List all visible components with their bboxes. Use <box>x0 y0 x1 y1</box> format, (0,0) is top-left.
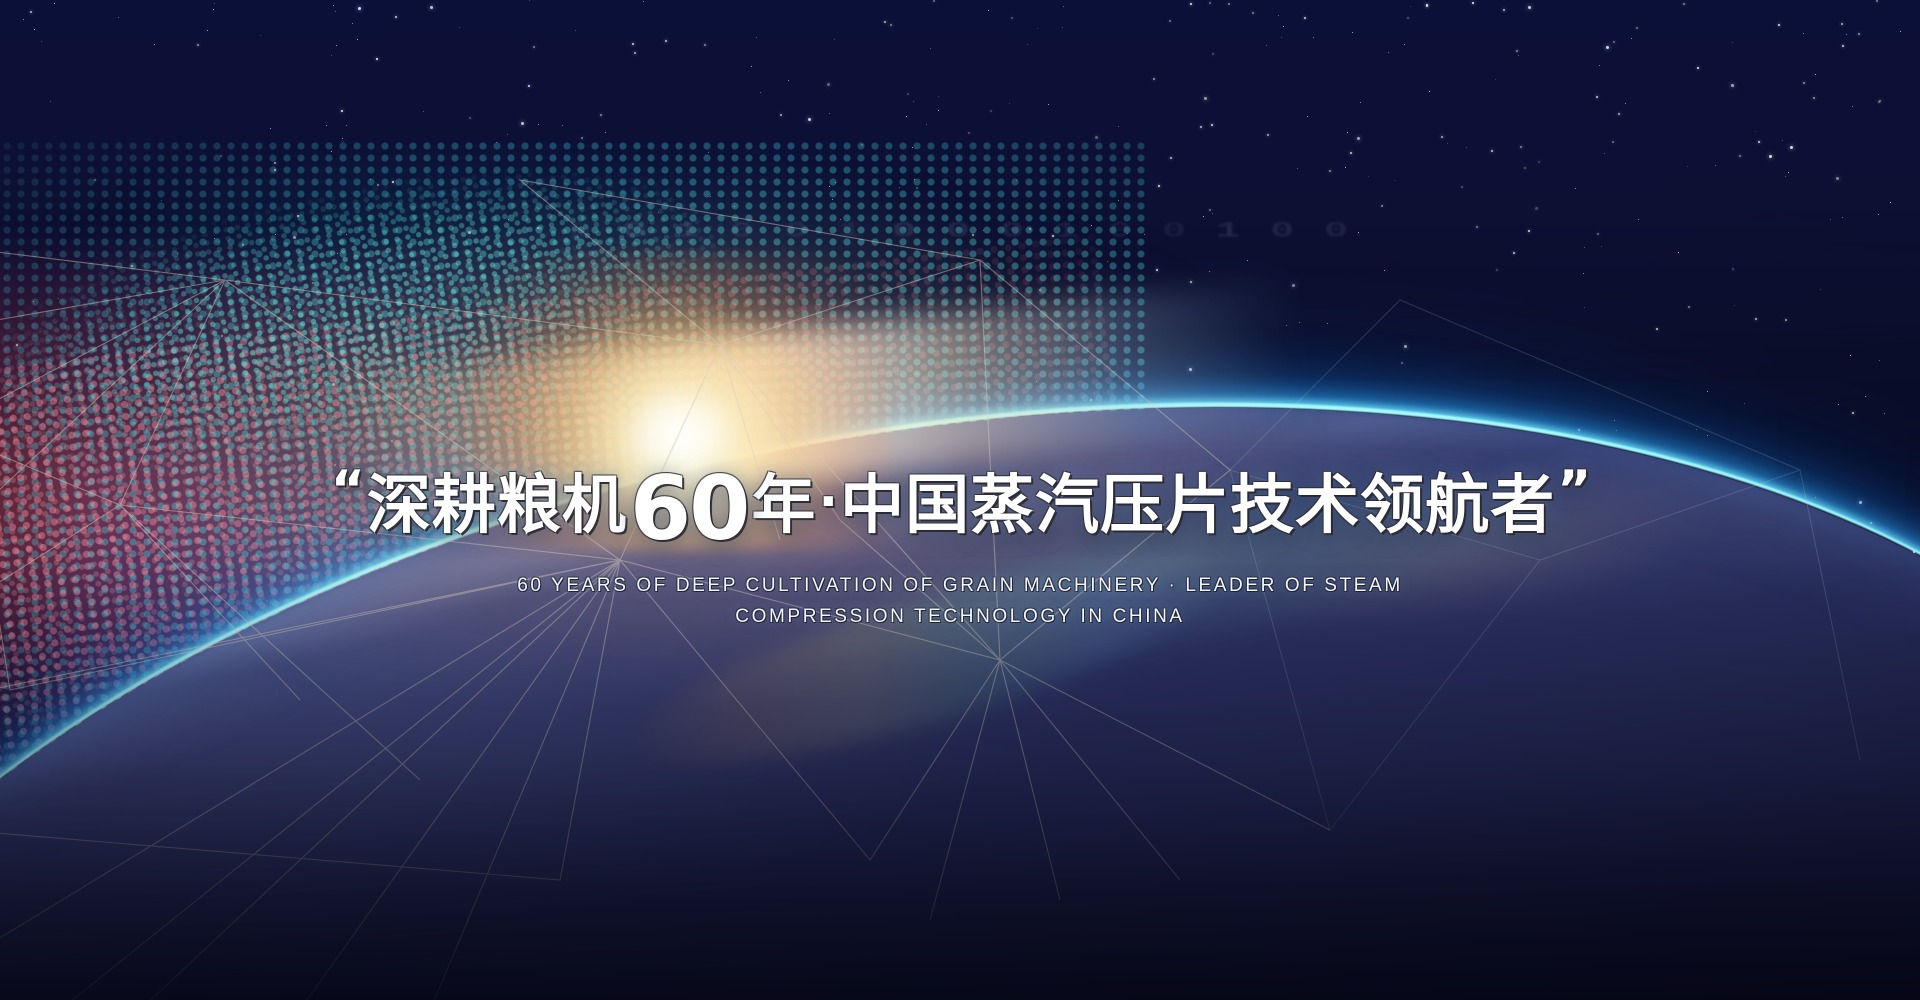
star <box>1037 28 1038 29</box>
star <box>507 134 508 135</box>
star <box>1189 368 1192 371</box>
star <box>788 80 789 81</box>
star <box>955 721 956 722</box>
binary-glyph: 1 <box>1216 219 1244 244</box>
star <box>1495 79 1496 80</box>
star <box>1878 214 1879 215</box>
star <box>1209 729 1210 730</box>
star <box>1625 103 1626 104</box>
star <box>990 110 992 112</box>
star <box>1209 2 1211 4</box>
star <box>1503 9 1505 11</box>
star <box>373 437 375 439</box>
star <box>486 718 489 721</box>
star <box>1170 157 1172 159</box>
binary-glyph: 0 <box>1162 219 1190 244</box>
star <box>829 457 830 458</box>
star <box>263 443 264 444</box>
quote-close-icon: ” <box>1557 464 1589 516</box>
star <box>224 323 225 324</box>
star <box>94 179 96 181</box>
star <box>367 405 368 406</box>
star <box>376 58 378 60</box>
star <box>533 46 535 48</box>
star <box>118 17 119 18</box>
star <box>1790 146 1793 149</box>
star <box>423 111 424 112</box>
star <box>54 3 55 4</box>
star <box>1212 213 1213 214</box>
star <box>473 227 474 228</box>
star <box>1667 679 1669 681</box>
star <box>643 1 644 2</box>
star <box>148 350 151 353</box>
star <box>1143 662 1144 663</box>
star <box>1382 205 1383 206</box>
star <box>562 125 563 126</box>
star <box>391 440 393 442</box>
binary-glyph: 0 <box>1000 219 1028 244</box>
star <box>756 37 757 38</box>
star <box>1472 2 1474 4</box>
star <box>396 371 397 372</box>
star <box>1518 55 1519 56</box>
star <box>1595 646 1597 648</box>
star <box>1467 687 1468 688</box>
star <box>1878 101 1880 103</box>
star <box>1890 202 1891 203</box>
star <box>1190 3 1192 5</box>
star <box>1513 252 1515 254</box>
star <box>1491 150 1493 152</box>
star <box>1578 429 1580 431</box>
star <box>913 101 914 102</box>
star <box>402 705 404 707</box>
star <box>827 83 830 86</box>
star <box>4 278 5 279</box>
star <box>750 752 752 754</box>
star <box>632 43 634 45</box>
star <box>1009 443 1011 445</box>
star <box>1616 430 1617 431</box>
star <box>525 273 526 274</box>
star <box>1584 307 1585 308</box>
star <box>293 310 294 311</box>
star <box>1211 124 1213 126</box>
star <box>293 236 296 239</box>
star <box>1358 232 1359 233</box>
star <box>58 298 59 299</box>
star <box>1283 26 1284 27</box>
star <box>1388 52 1389 53</box>
star <box>1136 722 1138 724</box>
star <box>1884 413 1885 414</box>
star <box>1304 17 1306 19</box>
star <box>604 444 606 446</box>
star <box>1597 233 1599 235</box>
star <box>834 39 835 40</box>
star <box>1732 268 1734 270</box>
star <box>1846 34 1847 35</box>
star <box>751 441 752 442</box>
star <box>1707 435 1708 436</box>
star <box>1209 209 1211 211</box>
star <box>1466 147 1467 148</box>
star <box>529 0 530 1</box>
binary-glyph: 0 <box>730 219 758 244</box>
star <box>832 199 833 200</box>
star <box>337 253 338 254</box>
star <box>1252 12 1254 14</box>
star <box>50 101 51 102</box>
binary-glyph: 0 <box>1270 219 1298 244</box>
star <box>1036 381 1037 382</box>
star <box>1865 396 1866 397</box>
star <box>813 415 815 417</box>
star <box>111 704 112 705</box>
star <box>1368 176 1369 177</box>
star <box>890 24 892 26</box>
star <box>235 758 237 760</box>
star <box>658 212 659 213</box>
star <box>295 397 296 398</box>
star <box>1496 269 1498 271</box>
star <box>30 11 32 13</box>
star <box>23 19 24 20</box>
star <box>1458 711 1459 712</box>
star <box>332 383 335 386</box>
star <box>1278 15 1279 16</box>
star <box>377 184 379 186</box>
star <box>1852 106 1853 107</box>
binary-glyph: 1 <box>676 219 704 244</box>
star <box>1803 82 1805 84</box>
star <box>972 234 974 236</box>
star <box>1329 170 1331 172</box>
star <box>247 379 248 380</box>
star <box>197 44 199 46</box>
star <box>968 132 970 134</box>
star <box>906 116 907 117</box>
star <box>496 142 497 143</box>
star <box>54 637 55 638</box>
star <box>1099 702 1100 703</box>
star <box>930 48 931 49</box>
star <box>1803 33 1804 34</box>
star <box>508 219 509 220</box>
star <box>177 253 178 254</box>
star <box>1207 633 1208 634</box>
star <box>740 286 741 287</box>
star <box>704 44 706 46</box>
star <box>1769 155 1772 158</box>
star <box>1410 6 1411 7</box>
star <box>1815 74 1816 75</box>
headline-part-3: 中国蒸汽压片技术领航者 <box>840 474 1555 538</box>
star <box>1447 143 1448 144</box>
star <box>1583 273 1584 274</box>
headline-part-2: 年 <box>751 474 816 538</box>
star <box>261 310 262 311</box>
star <box>983 230 984 231</box>
headline: “ 深耕粮机 60 年 · 中国蒸汽压片技术领航者 ” <box>0 462 1920 550</box>
star <box>1169 20 1171 22</box>
star <box>161 200 162 201</box>
binary-glyph: 0 <box>568 219 596 244</box>
star <box>1352 32 1353 33</box>
star <box>1118 200 1119 201</box>
star <box>858 757 860 759</box>
star <box>297 215 299 217</box>
star <box>786 687 788 689</box>
star <box>223 436 224 437</box>
horizon-streaks <box>0 780 760 980</box>
star <box>336 45 337 46</box>
star <box>914 179 915 180</box>
star <box>1081 442 1082 443</box>
star <box>161 309 162 310</box>
star <box>988 10 989 11</box>
star <box>516 638 518 640</box>
star <box>1158 185 1160 187</box>
star <box>1118 126 1119 127</box>
star <box>358 7 361 10</box>
star <box>392 181 394 183</box>
star <box>1755 318 1757 320</box>
star <box>487 374 489 376</box>
star <box>521 647 523 649</box>
star <box>33 301 34 302</box>
star <box>1785 176 1786 177</box>
star <box>459 27 460 28</box>
star <box>1024 427 1025 428</box>
star <box>492 449 494 451</box>
star <box>431 428 432 429</box>
star <box>1066 339 1067 340</box>
star <box>581 137 583 139</box>
star <box>1441 136 1443 138</box>
star <box>785 673 787 675</box>
star <box>1584 247 1585 248</box>
subtitle-line-1: 60 YEARS OF DEEP CULTIVATION OF GRAIN MA… <box>0 570 1920 601</box>
star <box>1858 33 1860 35</box>
star <box>1879 360 1880 361</box>
star <box>1203 216 1204 217</box>
star <box>41 41 42 42</box>
star <box>912 147 913 148</box>
star <box>1656 328 1658 330</box>
star <box>1838 404 1839 405</box>
star <box>1107 261 1108 262</box>
star <box>1360 102 1361 103</box>
star <box>1755 131 1756 132</box>
star <box>221 335 223 337</box>
star <box>16 344 18 346</box>
star <box>170 318 171 319</box>
star <box>852 425 855 428</box>
star <box>260 35 261 36</box>
star <box>1678 252 1679 253</box>
star <box>1879 100 1881 102</box>
star <box>1813 97 1815 99</box>
star <box>1404 345 1407 348</box>
star <box>270 128 271 129</box>
star <box>242 244 244 246</box>
star <box>331 151 332 152</box>
star <box>1535 207 1538 210</box>
star <box>370 179 371 180</box>
star <box>1841 23 1843 25</box>
star <box>1307 116 1308 117</box>
star <box>1864 719 1866 721</box>
star <box>1758 141 1760 143</box>
star <box>1327 323 1328 324</box>
star <box>916 187 918 189</box>
star <box>528 85 530 87</box>
star <box>346 125 347 126</box>
star <box>760 92 761 93</box>
star <box>1286 325 1287 326</box>
star <box>1614 420 1615 421</box>
star <box>326 125 327 126</box>
star <box>357 39 358 40</box>
star <box>1121 645 1122 646</box>
star <box>897 374 898 375</box>
star <box>1201 721 1202 722</box>
star <box>1161 676 1163 678</box>
star <box>220 155 222 157</box>
star <box>1687 166 1688 167</box>
star <box>131 265 133 267</box>
star <box>495 285 496 286</box>
star <box>1861 702 1863 704</box>
star <box>1787 705 1788 706</box>
star <box>395 16 397 18</box>
subtitle: 60 YEARS OF DEEP CULTIVATION OF GRAIN MA… <box>0 570 1920 633</box>
star <box>829 186 830 187</box>
star <box>631 314 633 316</box>
star <box>1127 233 1128 234</box>
star <box>1347 132 1348 133</box>
star <box>207 30 208 31</box>
star <box>275 234 276 235</box>
star <box>1528 6 1531 9</box>
star <box>1613 41 1615 43</box>
star <box>1062 27 1063 28</box>
star <box>1599 65 1600 66</box>
star <box>1266 45 1267 46</box>
star <box>1407 17 1409 19</box>
star <box>261 447 263 449</box>
star <box>214 238 215 239</box>
hero-banner: 001001000100100 <box>0 0 1920 1000</box>
star <box>342 138 343 139</box>
star <box>840 219 841 220</box>
star <box>154 44 155 45</box>
star <box>1292 284 1295 287</box>
star <box>1029 228 1031 230</box>
star <box>1042 687 1044 689</box>
star <box>524 663 526 665</box>
star <box>381 745 382 746</box>
star <box>1495 440 1498 443</box>
star <box>1715 165 1716 166</box>
star <box>1287 657 1288 658</box>
star <box>141 299 143 301</box>
star <box>1350 152 1352 154</box>
star <box>1613 741 1614 742</box>
star <box>1876 0 1878 2</box>
star <box>66 676 67 677</box>
star <box>484 383 485 384</box>
star <box>884 21 886 23</box>
star <box>1052 235 1054 237</box>
star <box>529 727 531 729</box>
star <box>1591 719 1592 720</box>
binary-glyph: 0 <box>946 219 974 244</box>
star <box>875 369 876 370</box>
star <box>332 441 333 442</box>
star <box>1696 429 1697 430</box>
binary-glyph: 0 <box>784 219 812 244</box>
star <box>1247 260 1248 261</box>
star <box>1144 234 1145 235</box>
star <box>1707 391 1708 392</box>
star <box>1850 355 1851 356</box>
star <box>940 649 941 650</box>
star <box>1297 168 1298 169</box>
star <box>1267 134 1269 136</box>
star <box>1852 412 1854 414</box>
star <box>1018 349 1019 350</box>
star <box>1778 24 1780 26</box>
star <box>829 113 830 114</box>
star <box>341 110 343 112</box>
star <box>1516 50 1518 52</box>
star <box>278 246 279 247</box>
star <box>1381 205 1383 207</box>
star <box>1299 440 1300 441</box>
star <box>577 237 578 238</box>
star <box>1820 289 1821 290</box>
star <box>1204 97 1207 100</box>
star <box>751 66 752 67</box>
star <box>214 3 215 4</box>
star <box>403 323 405 325</box>
star <box>524 365 526 367</box>
star <box>1636 27 1638 29</box>
star <box>1035 726 1037 728</box>
star <box>852 724 854 726</box>
star <box>734 206 735 207</box>
star <box>1245 690 1246 691</box>
star <box>1830 219 1831 220</box>
star <box>1426 4 1428 6</box>
star <box>1009 103 1010 104</box>
star <box>430 6 433 9</box>
star <box>1842 45 1844 47</box>
star <box>416 648 417 649</box>
star <box>523 403 524 404</box>
star <box>537 227 539 229</box>
star <box>1788 172 1789 173</box>
star <box>1076 413 1077 414</box>
star <box>1697 67 1699 69</box>
star <box>714 286 716 288</box>
star <box>859 646 860 647</box>
star <box>1270 678 1272 680</box>
star <box>546 662 548 664</box>
